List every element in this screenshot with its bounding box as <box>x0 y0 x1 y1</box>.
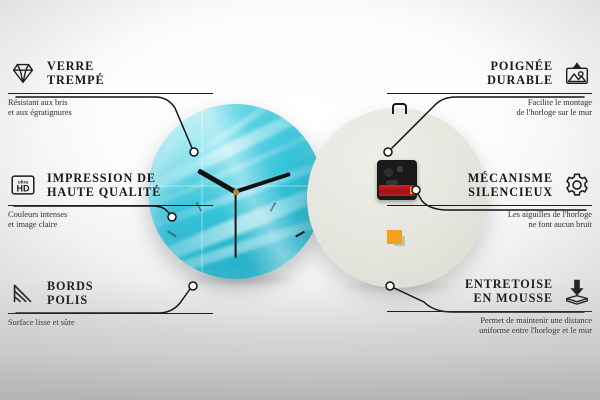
picture-hanger-icon <box>562 58 592 88</box>
feature-header: POIGNÉE DURABLE <box>387 56 592 90</box>
second-hand <box>235 192 237 258</box>
feature-subtitle: Surface lisse et sûre <box>8 318 213 329</box>
feature-subtitle: Facilite le montage de l'horloge sur le … <box>387 98 592 119</box>
hour-marker <box>167 230 177 237</box>
foam-spacer <box>387 230 402 244</box>
feature-title: ENTRETOISE EN MOUSSE <box>465 277 553 305</box>
feature-divider <box>387 93 592 94</box>
feature-header: BORDS POLIS <box>8 276 213 310</box>
diamond-icon <box>8 58 38 88</box>
feature-divider <box>387 205 592 206</box>
feature-title: MÉCANISME SILENCIEUX <box>468 171 553 199</box>
feature-title: BORDS POLIS <box>47 279 94 307</box>
feature-divider <box>387 311 592 312</box>
feature-subtitle: Permet de maintenir une distance uniform… <box>387 316 592 337</box>
feature-title: IMPRESSION DE HAUTE QUALITÉ <box>47 171 161 199</box>
feature-divider <box>8 93 213 94</box>
hour-marker <box>157 270 167 272</box>
infographic-canvas: VERRE TREMPÉ Résistant aux bris et aux é… <box>0 0 600 400</box>
hand-center-cap <box>233 189 239 195</box>
feature-header: VERRE TREMPÉ <box>8 56 213 90</box>
feature-header: MÉCANISME SILENCIEUX <box>387 168 592 202</box>
feature-impression-haute-qualite: ultra HD IMPRESSION DE HAUTE QUALITÉ Cou… <box>8 168 213 231</box>
feature-subtitle: Couleurs intenses et image claire <box>8 210 213 231</box>
feature-title: VERRE TREMPÉ <box>47 59 105 87</box>
feature-title: POIGNÉE DURABLE <box>487 59 553 87</box>
ultra-hd-icon: ultra HD <box>8 170 38 200</box>
feature-subtitle: Résistant aux bris et aux égratignures <box>8 98 213 119</box>
feature-bords-polis: BORDS POLIS Surface lisse et sûre <box>8 276 213 328</box>
hour-marker <box>305 270 315 272</box>
feature-header: ultra HD IMPRESSION DE HAUTE QUALITÉ <box>8 168 213 202</box>
feature-subtitle: Les aiguilles de l'horloge ne font aucun… <box>387 210 592 231</box>
feature-entretoise-en-mousse: ENTRETOISE EN MOUSSE Permet de maintenir… <box>387 274 592 337</box>
feature-mecanisme-silencieux: MÉCANISME SILENCIEUX Les aiguilles de l'… <box>387 168 592 231</box>
feature-poignee-durable: POIGNÉE DURABLE Facilite le montage de l… <box>387 56 592 119</box>
arrow-down-pad-icon <box>562 276 592 306</box>
feature-header: ENTRETOISE EN MOUSSE <box>387 274 592 308</box>
feature-verre-trempe: VERRE TREMPÉ Résistant aux bris et aux é… <box>8 56 213 119</box>
svg-text:HD: HD <box>17 184 30 194</box>
feature-divider <box>8 205 213 206</box>
gear-icon <box>562 170 592 200</box>
diagonal-lines-icon <box>8 278 38 308</box>
feature-divider <box>8 313 213 314</box>
